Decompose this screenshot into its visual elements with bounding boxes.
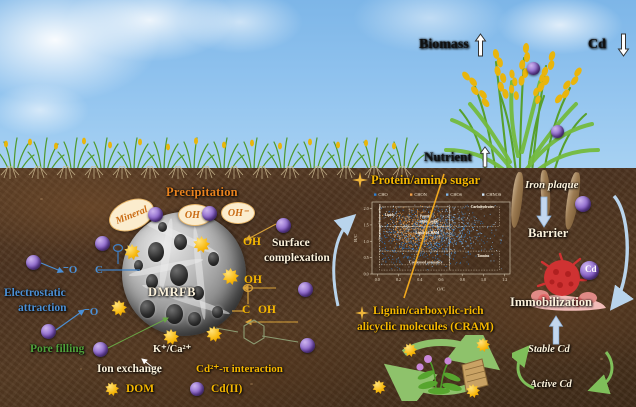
surface-complexation-line2: complexation (264, 253, 330, 265)
cd-pi-interaction-label: Cd²⁺-π interaction (196, 364, 283, 375)
oxygen-anion-glyph-1: ⁻O (63, 265, 77, 276)
carbon-glyph-2: C (242, 305, 250, 317)
cd-label-sky: Cd (588, 38, 606, 52)
cd-transformation-cycle-arrows (512, 344, 618, 396)
legend-cd-sphere-icon (190, 382, 204, 396)
cd-sphere-plant-upper (527, 62, 540, 75)
hydroxyl-glyph-3: OH (258, 305, 276, 317)
legend-cd-label: Cd(II) (211, 384, 242, 396)
immobilization-up-arrow-icon (548, 315, 564, 345)
cd-sphere-root (575, 196, 591, 212)
figure-canvas: Biomass Cd Nutrient (0, 0, 636, 407)
iron-plaque-label: Iron plaque (525, 180, 579, 191)
surface-complexation-line1: Surface (272, 238, 310, 250)
ion-species-label: K⁺/Ca²⁺ (153, 345, 191, 356)
cd-down-arrow-icon (617, 33, 630, 57)
sparkle-icon-cram (355, 306, 369, 320)
pore-filling-label: Pore filling (30, 344, 84, 356)
immobilization-label: Immobilization (510, 296, 592, 309)
electrostatic-attraction-line1: Electrostatic (4, 288, 66, 300)
right-recirculation-arrow (596, 190, 636, 320)
cram-line1: Lignin/carboxylic-rich (373, 306, 484, 318)
cd-sphere-text: Cd (585, 265, 597, 274)
biomass-up-arrow-icon (474, 33, 487, 57)
oxygen-anion-glyph-2: ⁻O (84, 307, 98, 318)
ion-exchange-label: Ion exchange (97, 364, 162, 376)
curved-arrow-into-chart (330, 190, 366, 310)
barrier-down-arrow-icon (536, 196, 552, 228)
chart-callout-line (340, 172, 530, 312)
electrostatic-attraction-line2: attraction (18, 303, 67, 315)
hydroxyl-glyph-1: OH (243, 237, 261, 249)
barrier-label: Barrier (528, 227, 568, 240)
legend-dom-label: DOM (126, 384, 154, 396)
carbon-glyph-1: C (95, 265, 103, 276)
hydroxyl-glyph-2: OH (244, 275, 262, 287)
cram-line2: alicyclic molecules (CRAM) (357, 322, 494, 334)
biomass-label: Biomass (419, 38, 469, 52)
